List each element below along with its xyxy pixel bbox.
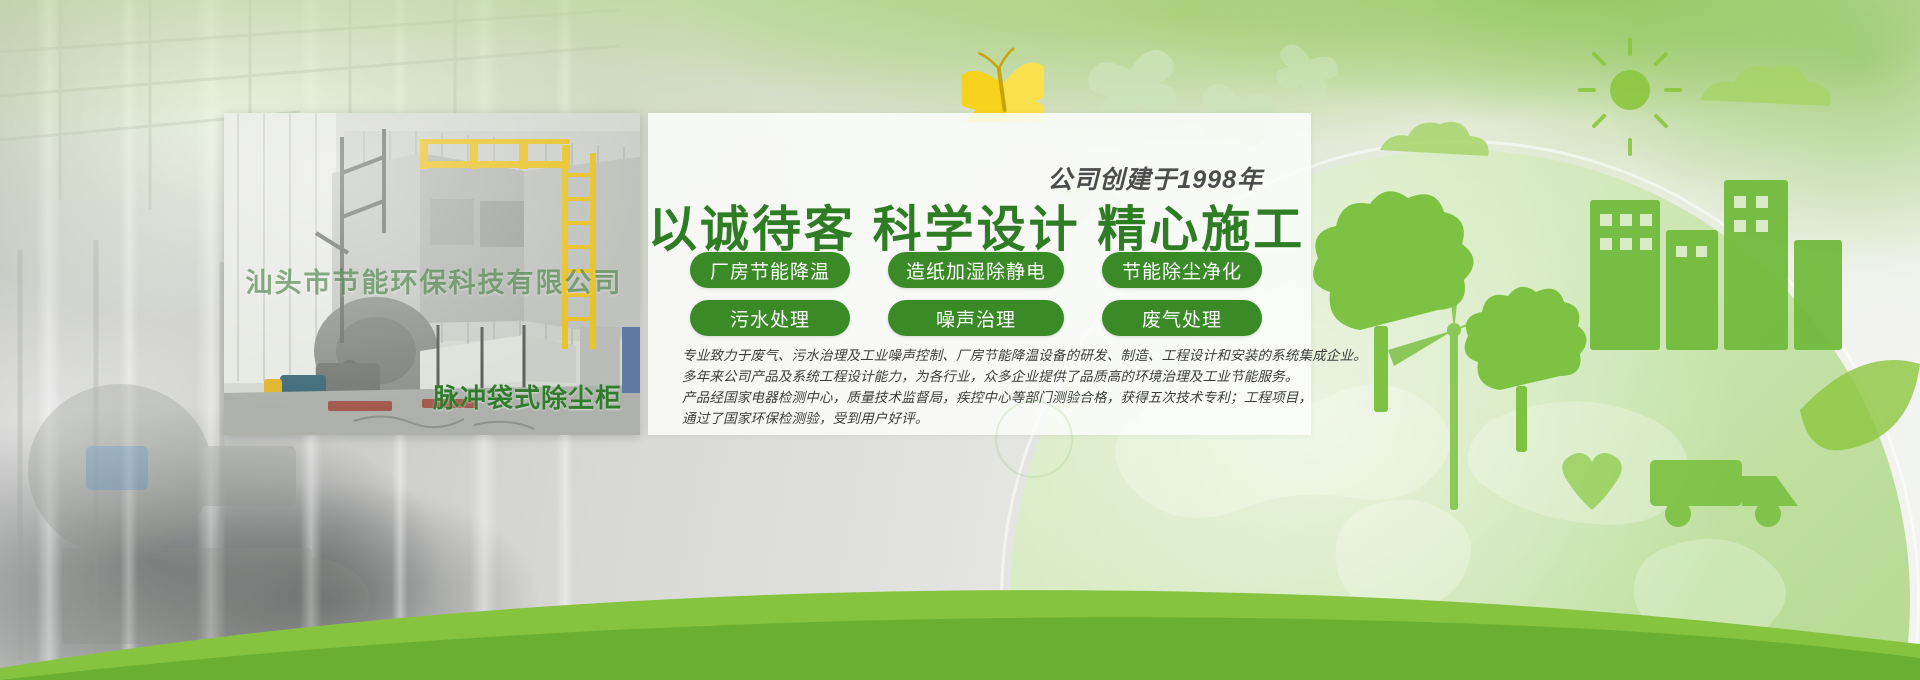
service-pill-noise-control[interactable]: 噪声治理 — [888, 300, 1064, 336]
service-pill-grid: 厂房节能降温 造纸加湿除静电 节能除尘净化 污水处理 噪声治理 废气处理 — [690, 252, 1290, 336]
decorative-seal — [995, 400, 1073, 478]
yellow-butterfly-icon — [962, 44, 1044, 122]
description-line: 多年来公司产品及系统工程设计能力，为各行业，众多企业提供了品质高的环境治理及工业… — [682, 366, 1312, 387]
photo-caption: 脉冲袋式除尘柜 — [224, 378, 640, 415]
service-pill-sewage-treatment[interactable]: 污水处理 — [690, 300, 850, 336]
description-line: 专业致力于废气、污水治理及工业噪声控制、厂房节能降温设备的研发、制造、工程设计和… — [682, 345, 1312, 366]
service-pill-waste-gas[interactable]: 废气处理 — [1102, 300, 1262, 336]
truck-icon — [1650, 460, 1798, 527]
service-pill-factory-cooling[interactable]: 厂房节能降温 — [690, 252, 850, 288]
promotional-banner: 汕头市节能环保科技有限公司 脉冲袋式除尘柜 公司创建于1998年 以诚待客 科学… — [0, 0, 1920, 680]
service-pill-dust-purification[interactable]: 节能除尘净化 — [1102, 252, 1262, 288]
description-line: 产品经国家电器检测中心，质量技术监督局，疾控中心等部门测验合格，获得五次技术专利… — [682, 387, 1312, 408]
building-icon — [1590, 180, 1842, 350]
cloud-icon — [1380, 65, 1831, 156]
sun-icon — [1580, 40, 1680, 154]
company-description: 专业致力于废气、污水治理及工业噪声控制、厂房节能降温设备的研发、制造、工程设计和… — [682, 345, 1312, 429]
product-photo-card: 汕头市节能环保科技有限公司 脉冲袋式除尘柜 — [224, 113, 640, 435]
main-headline: 以诚待客 科学设计 精心施工 — [648, 190, 1328, 261]
leaf-icon — [1800, 360, 1920, 450]
heart-icon — [1562, 453, 1622, 510]
photo-watermark: 汕头市节能环保科技有限公司 — [234, 261, 634, 300]
service-pill-paper-humidify[interactable]: 造纸加湿除静电 — [888, 252, 1064, 288]
bottom-green-swoosh — [0, 540, 1920, 680]
